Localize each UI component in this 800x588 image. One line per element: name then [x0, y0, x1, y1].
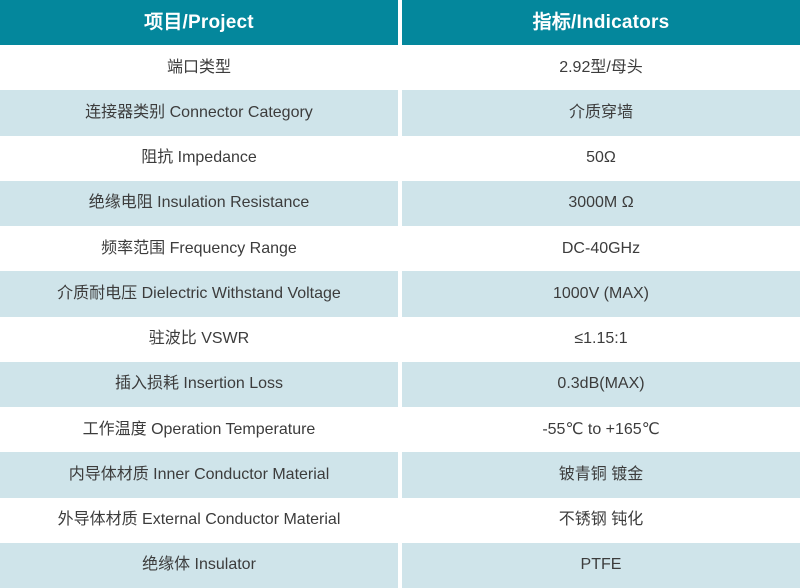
table-row: 插入损耗 Insertion Loss0.3dB(MAX)	[0, 362, 800, 407]
cell-indicator: 不锈钢 钝化	[402, 498, 800, 543]
cell-indicator: DC-40GHz	[402, 226, 800, 271]
cell-indicator: ≤1.15:1	[402, 317, 800, 362]
table-row: 驻波比 VSWR≤1.15:1	[0, 317, 800, 362]
table-header-row: 项目/Project 指标/Indicators	[0, 0, 800, 45]
column-header-indicators: 指标/Indicators	[402, 0, 800, 45]
cell-project: 连接器类别 Connector Category	[0, 90, 398, 135]
cell-project: 插入损耗 Insertion Loss	[0, 362, 398, 407]
table-row: 阻抗 Impedance50Ω	[0, 136, 800, 181]
table-body: 端口类型2.92型/母头连接器类别 Connector Category介质穿墙…	[0, 45, 800, 588]
cell-indicator: 3000M Ω	[402, 181, 800, 226]
cell-project: 绝缘电阻 Insulation Resistance	[0, 181, 398, 226]
cell-indicator: PTFE	[402, 543, 800, 588]
cell-project: 工作温度 Operation Temperature	[0, 407, 398, 452]
table-row: 内导体材质 Inner Conductor Material铍青铜 镀金	[0, 452, 800, 497]
table-row: 绝缘体 InsulatorPTFE	[0, 543, 800, 588]
cell-indicator: 铍青铜 镀金	[402, 452, 800, 497]
cell-indicator: 0.3dB(MAX)	[402, 362, 800, 407]
cell-indicator: -55℃ to +165℃	[402, 407, 800, 452]
table-row: 介质耐电压 Dielectric Withstand Voltage1000V …	[0, 271, 800, 316]
cell-project: 内导体材质 Inner Conductor Material	[0, 452, 398, 497]
cell-project: 端口类型	[0, 45, 398, 90]
column-header-project: 项目/Project	[0, 0, 398, 45]
cell-project: 外导体材质 External Conductor Material	[0, 498, 398, 543]
specification-table: 项目/Project 指标/Indicators 端口类型2.92型/母头连接器…	[0, 0, 800, 588]
table-row: 连接器类别 Connector Category介质穿墙	[0, 90, 800, 135]
table-row: 端口类型2.92型/母头	[0, 45, 800, 90]
cell-project: 绝缘体 Insulator	[0, 543, 398, 588]
cell-indicator: 介质穿墙	[402, 90, 800, 135]
cell-project: 驻波比 VSWR	[0, 317, 398, 362]
cell-indicator: 1000V (MAX)	[402, 271, 800, 316]
cell-indicator: 2.92型/母头	[402, 45, 800, 90]
cell-project: 频率范围 Frequency Range	[0, 226, 398, 271]
cell-project: 介质耐电压 Dielectric Withstand Voltage	[0, 271, 398, 316]
table-row: 工作温度 Operation Temperature-55℃ to +165℃	[0, 407, 800, 452]
cell-project: 阻抗 Impedance	[0, 136, 398, 181]
cell-indicator: 50Ω	[402, 136, 800, 181]
table-row: 频率范围 Frequency RangeDC-40GHz	[0, 226, 800, 271]
table-row: 绝缘电阻 Insulation Resistance3000M Ω	[0, 181, 800, 226]
table-row: 外导体材质 External Conductor Material不锈钢 钝化	[0, 498, 800, 543]
